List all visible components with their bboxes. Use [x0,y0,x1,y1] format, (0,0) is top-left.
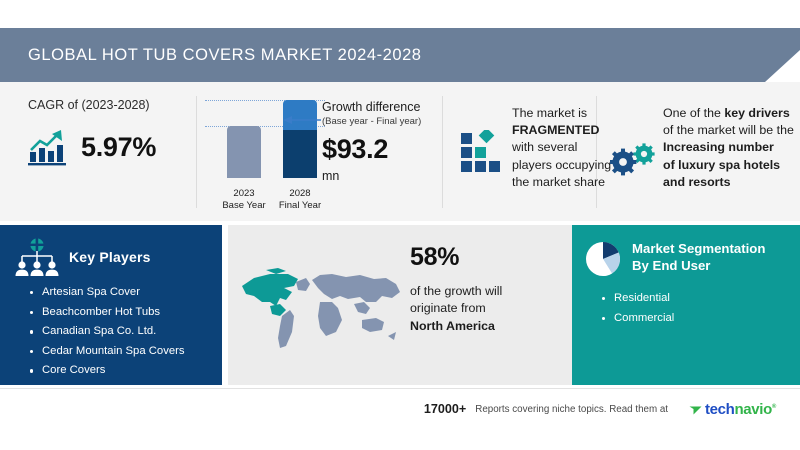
list-item: Artesian Spa Cover [28,283,218,303]
report-count: 17000+ [424,402,466,416]
bar-chart-growth-icon [28,128,72,166]
region-percent: 58% [410,243,459,272]
cagr-block: 5.97% [28,128,156,166]
drivers-keyword: key drivers [724,106,789,120]
growth-difference-subtitle: (Base year - Final year) [322,116,421,127]
segmentation-title: Market Segmentation By End User [632,240,782,274]
infographic-canvas: GLOBAL HOT TUB COVERS MARKET 2024-2028 C… [0,0,800,450]
header: GLOBAL HOT TUB COVERS MARKET 2024-2028 [0,28,800,82]
list-item: Beachcomber Hot Tubs [28,303,218,323]
divider-mid [442,96,443,208]
drivers-line1: One of the [663,106,724,120]
page-title: GLOBAL HOT TUB COVERS MARKET 2024-2028 [28,28,422,82]
bar-2028-year: 2028 [289,188,310,199]
region-line1: of the growth will [410,284,502,298]
key-players-list: Artesian Spa Cover Beachcomber Hot Tubs … [28,283,218,381]
world-map-icon [236,258,411,358]
drivers-text: One of the key drivers of the market wil… [663,105,795,191]
key-players-header: Key Players [14,237,151,277]
footer-description: Reports covering niche topics. Read them… [475,404,668,415]
cagr-value: 5.97% [81,132,156,163]
fragmented-line4: players occupying [512,158,611,172]
logo-trademark: ® [772,404,776,410]
fragmented-line3: with several [512,140,577,154]
region-line2: originate from [410,301,486,315]
cagr-label: CAGR of (2023-2028) [28,98,150,112]
drivers-line4: of luxury spa hotels [663,158,780,172]
region-text: of the growth will originate from North … [410,283,550,335]
drivers-line3: Increasing number [663,140,774,154]
org-chart-people-icon [14,237,60,277]
pie-chart-icon [584,240,622,278]
region-highlight: North America [410,319,495,333]
fragmented-line5: the market share [512,175,605,189]
list-item: Core Covers [28,361,218,381]
logo-text-tech: tech [705,401,734,418]
footer: 17000+ Reports covering niche topics. Re… [0,398,800,420]
segmentation-list: Residential Commercial [600,288,674,328]
drivers-line2: of the market will be the [663,123,794,137]
technavio-logo[interactable]: technavio® [689,401,776,418]
logo-text-navio: navio [734,401,771,418]
growth-difference-value: $93.2 [322,134,388,165]
drivers-line5: and resorts [663,175,730,189]
fragmented-line1: The market is [512,106,587,120]
bar-2023-year: 2023 [233,188,254,199]
list-item: Commercial [600,308,674,328]
bar-2028-sublabel: Final Year [279,200,321,211]
divider-left [196,96,197,208]
growth-difference-unit: mn [322,169,339,183]
technavio-arrow-icon [689,403,702,416]
list-item: Canadian Spa Co. Ltd. [28,322,218,342]
squares-diamond-icon [460,130,504,172]
list-item: Cedar Mountain Spa Covers [28,342,218,362]
fragmented-keyword: FRAGMENTED [512,123,599,137]
growth-difference-title: Growth difference [322,100,420,114]
bar-2023 [227,126,261,178]
footer-divider [0,388,800,389]
key-players-title: Key Players [69,249,151,265]
segmentation-header: Market Segmentation By End User [584,240,782,278]
left-arrow-icon [283,112,323,122]
gears-icon [610,140,658,178]
bar-2023-sublabel: Base Year [222,200,265,211]
list-item: Residential [600,288,674,308]
